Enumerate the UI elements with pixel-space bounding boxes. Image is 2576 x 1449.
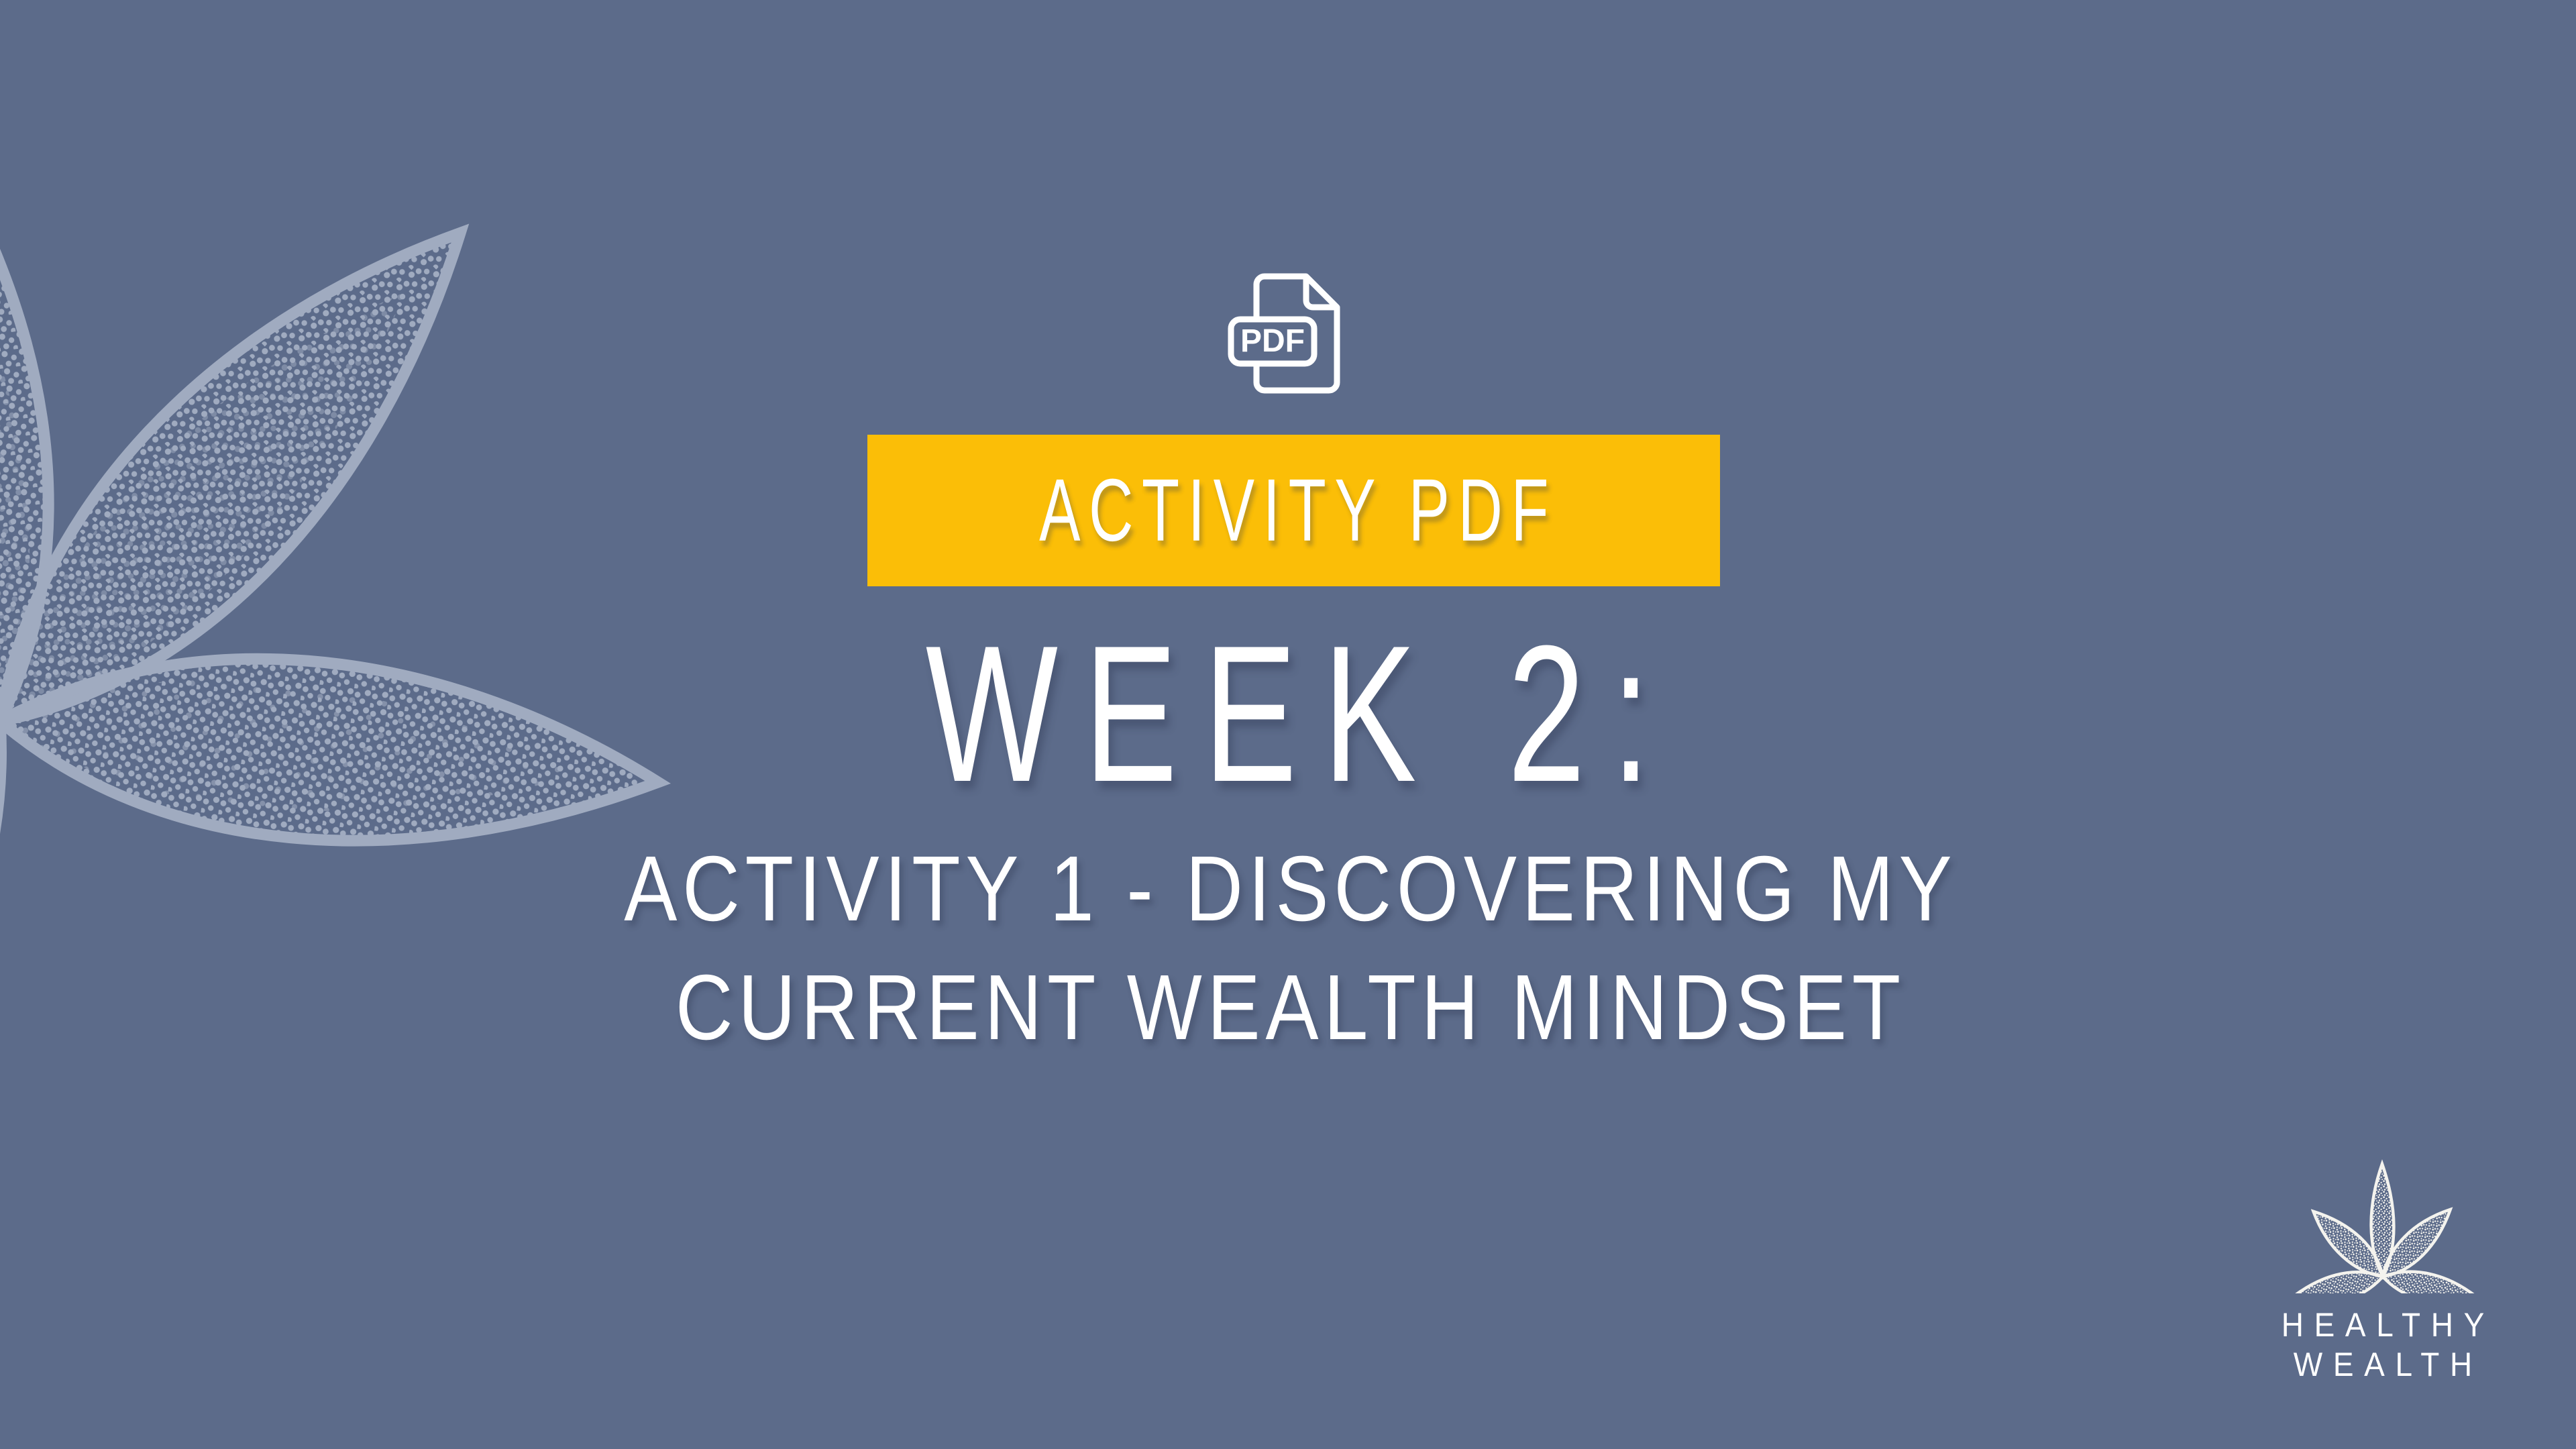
lotus-leaf-mark xyxy=(2262,1152,2504,1293)
pdf-file-icon: PDF xyxy=(1224,267,1358,401)
activity-pdf-badge-label: ACTIVITY PDF xyxy=(1030,466,1556,555)
content-layer: PDF ACTIVITY PDF WEEK 2: ACTIVITY 1 - DI… xyxy=(0,0,2576,1449)
pdf-icon-label: PDF xyxy=(1240,323,1305,359)
brand-logo: HEALTHY WEALTH xyxy=(2249,1152,2517,1407)
slide-canvas: PDF ACTIVITY PDF WEEK 2: ACTIVITY 1 - DI… xyxy=(0,0,2576,1449)
page-subtitle-line-2: CURRENT WEALTH MINDSET xyxy=(180,949,2396,1067)
page-title: WEEK 2: xyxy=(361,631,2216,798)
headline-block: WEEK 2: ACTIVITY 1 - DISCOVERING MY CURR… xyxy=(0,631,2576,1067)
logo-wordmark-line-1: HEALTHY xyxy=(2259,1305,2506,1345)
logo-wordmark-line-2: WEALTH xyxy=(2259,1345,2506,1385)
activity-pdf-badge[interactable]: ACTIVITY PDF xyxy=(867,435,1720,586)
page-subtitle-line-1: ACTIVITY 1 - DISCOVERING MY xyxy=(180,830,2396,949)
